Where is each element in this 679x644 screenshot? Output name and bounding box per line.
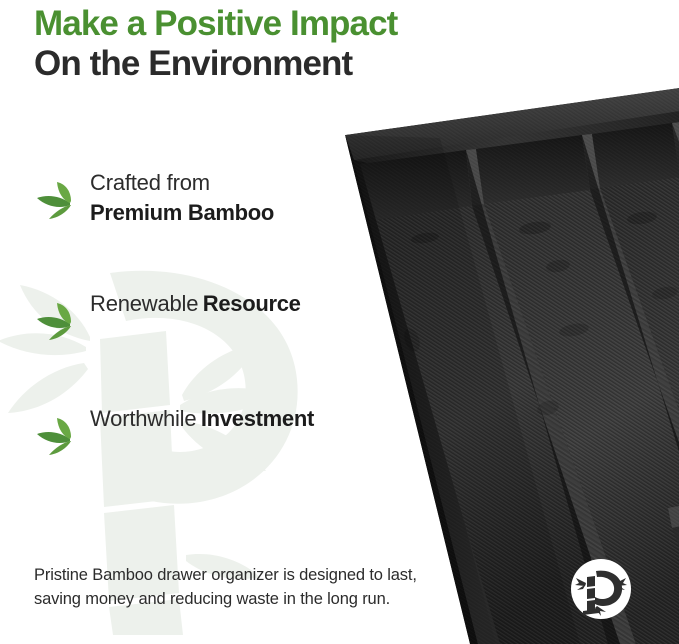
feature-bottom-line: Resource bbox=[203, 291, 301, 316]
feature-text: Worthwhile Investment bbox=[90, 404, 336, 434]
feature-top-line: Crafted from bbox=[90, 170, 210, 195]
pristine-bamboo-p-logo-icon bbox=[570, 558, 632, 620]
headline-line-2: On the Environment bbox=[34, 44, 554, 84]
bamboo-leaf-icon bbox=[36, 418, 80, 458]
product-feature-infographic: Make a Positive Impact On the Environmen… bbox=[0, 0, 679, 644]
feature-text: Renewable Resource bbox=[90, 289, 336, 319]
feature-bottom-line: Premium Bamboo bbox=[90, 200, 274, 225]
feature-top-line: Worthwhile bbox=[90, 406, 196, 431]
feature-item-renewable-resource: Renewable Resource bbox=[36, 289, 336, 343]
feature-item-worthwhile-investment: Worthwhile Investment bbox=[36, 404, 336, 458]
feature-bottom-line: Investment bbox=[201, 406, 314, 431]
feature-list: Crafted from Premium Bamboo Renewable Re… bbox=[36, 168, 336, 519]
caption-line-2: saving money and reducing waste in the l… bbox=[34, 587, 524, 611]
headline-line-1: Make a Positive Impact bbox=[34, 0, 554, 44]
caption-line-1: Pristine Bamboo drawer organizer is desi… bbox=[34, 563, 524, 587]
bamboo-leaf-icon bbox=[36, 182, 80, 222]
feature-top-line: Renewable bbox=[90, 291, 198, 316]
headline: Make a Positive Impact On the Environmen… bbox=[34, 0, 554, 84]
feature-item-premium-bamboo: Crafted from Premium Bamboo bbox=[36, 168, 336, 228]
feature-text: Crafted from Premium Bamboo bbox=[90, 168, 336, 228]
caption: Pristine Bamboo drawer organizer is desi… bbox=[34, 563, 524, 611]
bamboo-leaf-icon bbox=[36, 303, 80, 343]
